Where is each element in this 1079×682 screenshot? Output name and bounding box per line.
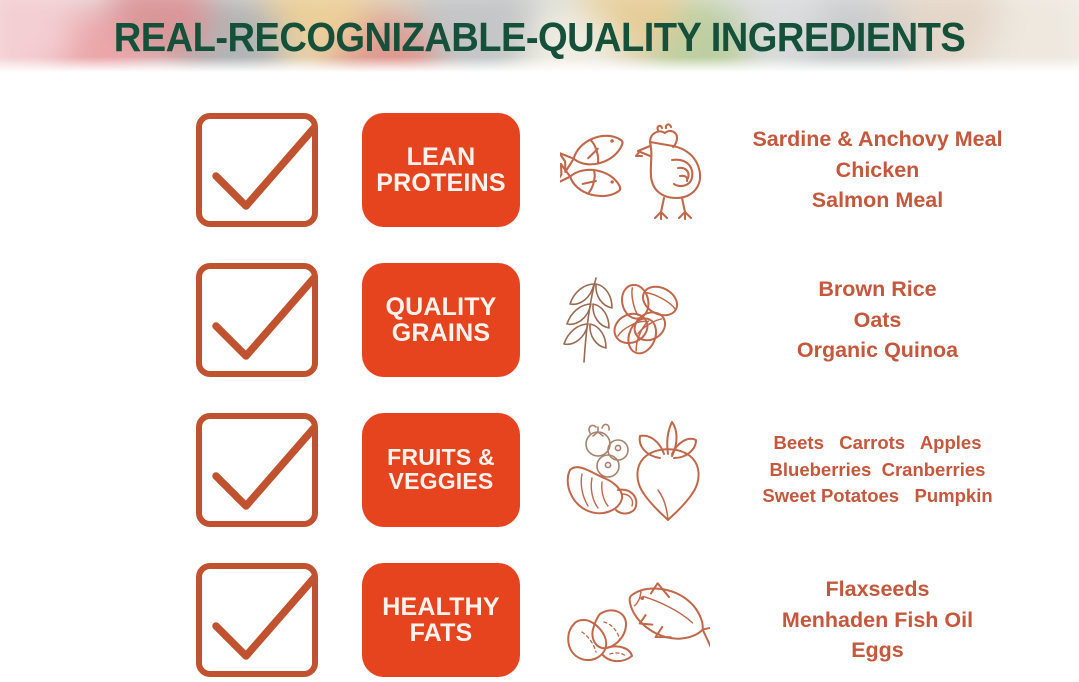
grains-icon xyxy=(560,270,710,370)
fruits-veggies-icon xyxy=(560,418,710,523)
ingredient-item: Flaxseeds xyxy=(826,574,930,605)
checkmark-icon xyxy=(194,257,328,383)
checkbox-cell xyxy=(0,413,362,527)
ingredient-item: Beets Carrots Apples xyxy=(773,430,981,457)
fish-icon xyxy=(560,162,623,201)
checkbox-checked[interactable] xyxy=(196,263,318,377)
ingredient-row: LEAN PROTEINS xyxy=(0,95,1079,245)
icon-cell xyxy=(528,120,720,220)
ingredient-item: Organic Quinoa xyxy=(797,335,958,366)
flaxseed-icon xyxy=(568,610,632,661)
category-badge-quality-grains[interactable]: QUALITY GRAINS xyxy=(362,263,520,377)
header-banner: REAL-RECOGNIZABLE-QUALITY INGREDIENTS xyxy=(0,0,1079,73)
checkbox-checked[interactable] xyxy=(196,563,318,677)
flaxseed-and-fish-icon xyxy=(560,570,710,670)
badge-line-2: VEGGIES xyxy=(389,470,494,494)
ingredient-row: HEALTHY FATS xyxy=(0,545,1079,682)
icon-cell xyxy=(528,270,720,370)
blueberries-icon xyxy=(586,424,628,477)
wheat-sprig-icon xyxy=(564,278,612,362)
ingredient-item: Salmon Meal xyxy=(812,185,943,216)
ingredient-list: Brown Rice Oats Organic Quinoa xyxy=(720,274,1079,367)
checkmark-icon xyxy=(194,557,328,682)
badge-line-1: QUALITY xyxy=(385,294,496,320)
checkbox-cell xyxy=(0,263,362,377)
icon-cell xyxy=(528,418,720,523)
badge-cell: FRUITS & VEGGIES xyxy=(362,413,528,527)
badge-line-2: GRAINS xyxy=(392,320,490,346)
page-title: REAL-RECOGNIZABLE-QUALITY INGREDIENTS xyxy=(38,0,1041,73)
ingredient-row: FRUITS & VEGGIES xyxy=(0,395,1079,545)
checkmark-icon xyxy=(194,407,328,533)
fish-icon xyxy=(619,575,710,660)
fish-and-chicken-icon xyxy=(560,120,710,220)
ingredient-item: Oats xyxy=(854,305,902,336)
ingredients-infographic: REAL-RECOGNIZABLE-QUALITY INGREDIENTS LE… xyxy=(0,0,1079,682)
ingredient-item: Menhaden Fish Oil xyxy=(782,605,973,636)
category-badge-fruits-veggies[interactable]: FRUITS & VEGGIES xyxy=(362,413,520,527)
sweet-potato-icon xyxy=(568,467,637,513)
badge-line-2: FATS xyxy=(410,620,473,646)
ingredient-list: Flaxseeds Menhaden Fish Oil Eggs xyxy=(720,574,1079,667)
ingredient-list: Sardine & Anchovy Meal Chicken Salmon Me… xyxy=(720,124,1079,217)
ingredient-item: Eggs xyxy=(851,635,904,666)
category-badge-healthy-fats[interactable]: HEALTHY FATS xyxy=(362,563,520,677)
checkbox-checked[interactable] xyxy=(196,113,318,227)
checkbox-cell xyxy=(0,113,362,227)
icon-cell xyxy=(528,570,720,670)
badge-cell: QUALITY GRAINS xyxy=(362,263,528,377)
chicken-icon xyxy=(636,124,700,219)
badge-line-2: PROTEINS xyxy=(376,170,505,196)
ingredient-item: Blueberries Cranberries xyxy=(770,457,986,484)
ingredient-item: Sweet Potatoes Pumpkin xyxy=(762,483,992,510)
ingredient-item: Chicken xyxy=(836,155,920,186)
badge-line-1: LEAN xyxy=(407,144,476,170)
checkbox-checked[interactable] xyxy=(196,413,318,527)
ingredient-item: Sardine & Anchovy Meal xyxy=(752,124,1002,155)
checkbox-cell xyxy=(0,563,362,677)
ingredient-rows: LEAN PROTEINS xyxy=(0,73,1079,682)
badge-line-1: FRUITS & xyxy=(387,446,495,470)
category-badge-lean-proteins[interactable]: LEAN PROTEINS xyxy=(362,113,520,227)
ingredient-list: Beets Carrots Apples Blueberries Cranber… xyxy=(720,430,1079,510)
ingredient-row: QUALITY GRAINS xyxy=(0,245,1079,395)
badge-cell: HEALTHY FATS xyxy=(362,563,528,677)
grain-kernel-icon xyxy=(610,281,682,357)
beet-icon xyxy=(637,422,698,520)
checkmark-icon xyxy=(194,107,328,233)
ingredient-item: Brown Rice xyxy=(818,274,936,305)
badge-cell: LEAN PROTEINS xyxy=(362,113,528,227)
badge-line-1: HEALTHY xyxy=(382,594,500,620)
fish-icon xyxy=(560,130,626,174)
